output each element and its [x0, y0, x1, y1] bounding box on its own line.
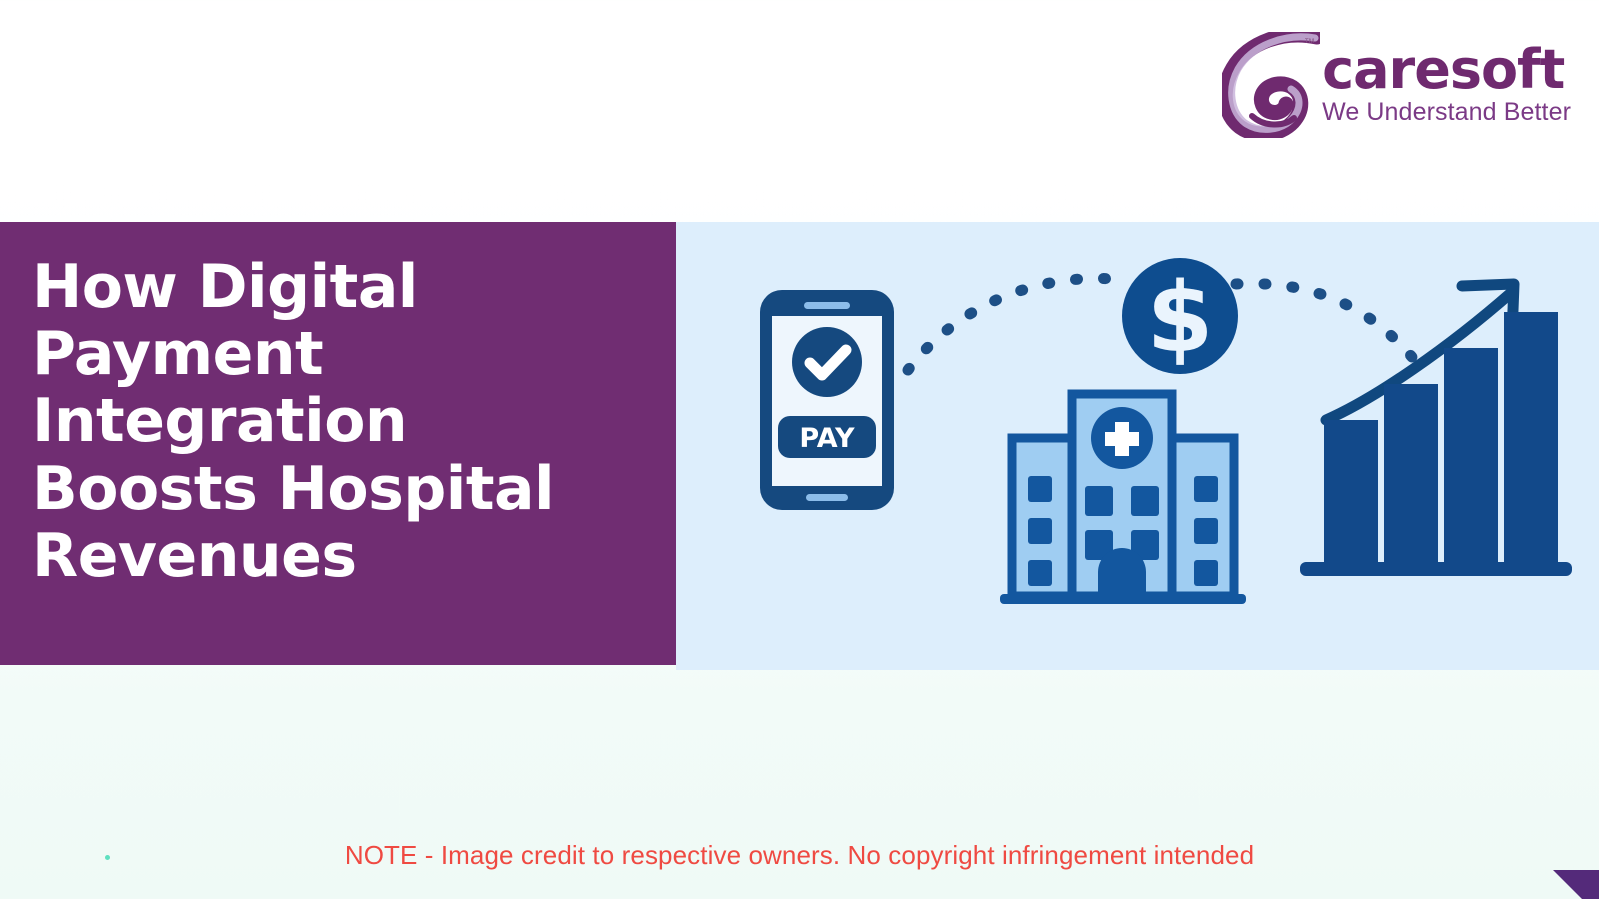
svg-text:™: ™ [1304, 37, 1315, 49]
bar-3 [1444, 348, 1498, 566]
caresoft-logo-mark: ™ [1222, 32, 1320, 138]
copyright-note: NOTE - Image credit to respective owners… [0, 840, 1599, 871]
caresoft-logo: ™ caresoft We Understand Better [1222, 30, 1571, 140]
page-header: ™ caresoft We Understand Better [0, 0, 1599, 200]
title-panel: How Digital Payment Integration Boosts H… [0, 222, 676, 665]
medical-cross-icon [1091, 407, 1153, 469]
payment-flow-illustration: PAY $ [676, 222, 1599, 670]
dotted-arc-right [1236, 284, 1424, 372]
svg-text:$: $ [1147, 262, 1214, 374]
bar-2 [1384, 384, 1438, 566]
brand-tagline: We Understand Better [1322, 99, 1571, 125]
pay-button[interactable]: PAY [778, 416, 876, 458]
growth-chart-graphic [1300, 284, 1572, 576]
hospital-graphic [1000, 394, 1246, 604]
bar-4 [1504, 312, 1558, 566]
hero-banner: How Digital Payment Integration Boosts H… [0, 222, 1599, 672]
dotted-arc-left [908, 278, 1124, 370]
brand-name: caresoft [1322, 44, 1571, 97]
logo-wordmark: caresoft We Understand Better [1322, 44, 1571, 125]
check-icon [792, 327, 862, 397]
corner-accent [1553, 870, 1599, 899]
phone-graphic: PAY [760, 290, 894, 510]
svg-text:PAY: PAY [799, 423, 855, 454]
dollar-coin-icon: $ [1122, 258, 1238, 374]
page-title: How Digital Payment Integration Boosts H… [32, 254, 636, 590]
bar-1 [1324, 420, 1378, 566]
chart-baseline [1300, 562, 1572, 576]
illustration-panel: PAY $ [676, 222, 1599, 670]
corner-triangle [1553, 870, 1599, 899]
